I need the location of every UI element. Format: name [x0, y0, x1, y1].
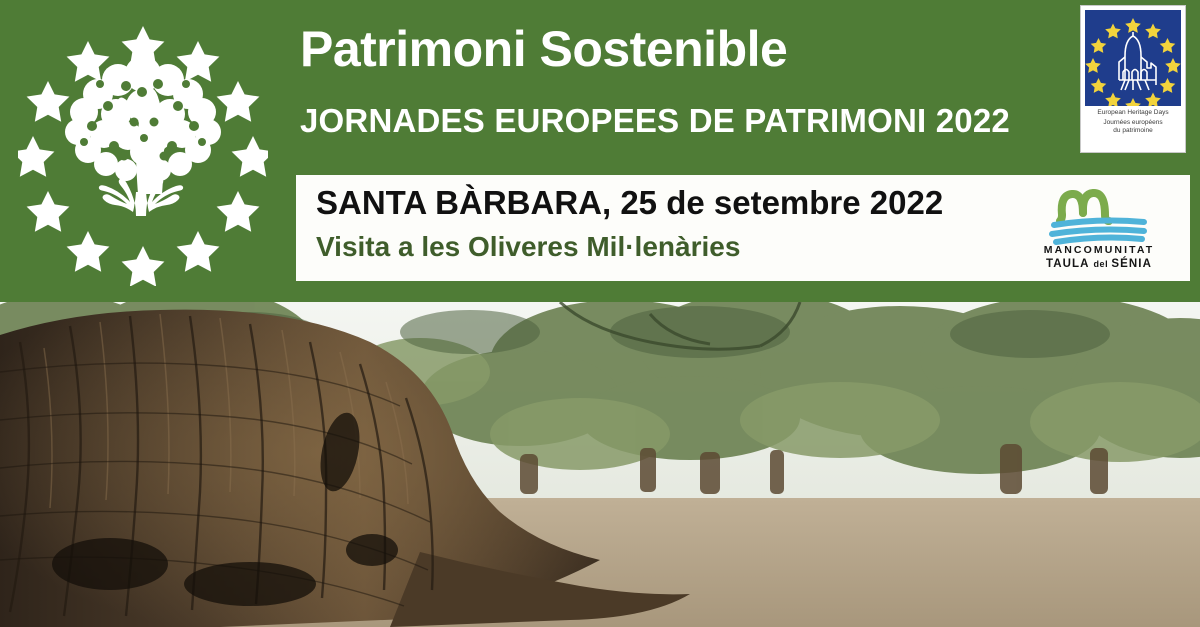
- mancomunitat-line-2: TAULA del SÉNIA: [1014, 258, 1184, 271]
- mancomunitat-senia: SÉNIA: [1111, 258, 1152, 270]
- mancomunitat-taula-del-senia-logo: MANCOMUNITAT TAULA del SÉNIA: [1014, 181, 1184, 275]
- event-activity: Visita a les Oliveres Mil·lenàries: [316, 233, 740, 261]
- event-place-date: SANTA BÀRBARA, 25 de setembre 2022: [316, 186, 943, 219]
- tree-with-roots-icon: [18, 14, 268, 286]
- poster-root: Patrimoni Sostenible JORNADES EUROPEES D…: [0, 0, 1200, 627]
- eu-caption-line-2: Journées européens: [1085, 119, 1181, 127]
- event-photo: [0, 302, 1200, 627]
- eu-flag-icon: [1085, 10, 1181, 106]
- eu-logo-caption: European Heritage Days Journées européen…: [1085, 109, 1181, 135]
- page-title: Patrimoni Sostenible: [300, 24, 787, 74]
- mancomunitat-del: del: [1093, 259, 1111, 269]
- mancomunitat-line-1: MANCOMUNITAT: [1014, 245, 1184, 257]
- eu-caption-line-1: European Heritage Days: [1085, 109, 1181, 117]
- mancomunitat-taula: TAULA: [1046, 258, 1093, 270]
- page-subtitle: JORNADES EUROPEES DE PATRIMONI 2022: [300, 104, 1010, 137]
- event-banner: SANTA BÀRBARA, 25 de setembre 2022 Visit…: [296, 175, 1190, 281]
- header-band: Patrimoni Sostenible JORNADES EUROPEES D…: [0, 0, 1200, 302]
- eu-caption-line-3: du patrimoine: [1085, 127, 1181, 135]
- european-heritage-days-logo: European Heritage Days Journées européen…: [1080, 5, 1186, 153]
